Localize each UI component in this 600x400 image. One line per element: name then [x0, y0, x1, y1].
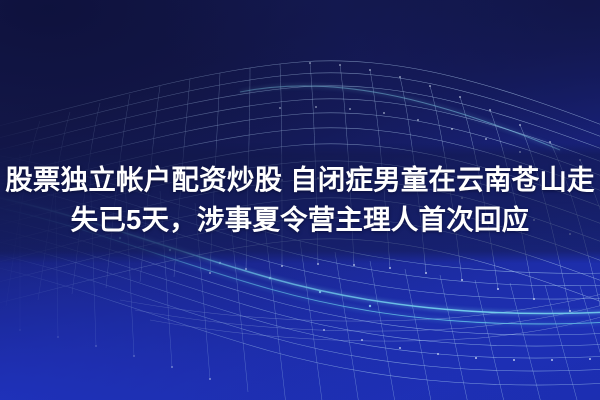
- news-banner: 股票独立帐户配资炒股 自闭症男童在云南苍山走 失已5天，涉事夏令营主理人首次回应: [0, 0, 600, 400]
- headline-line-2: 失已5天，涉事夏令营主理人首次回应: [0, 200, 600, 240]
- headline: 股票独立帐户配资炒股 自闭症男童在云南苍山走 失已5天，涉事夏令营主理人首次回应: [0, 160, 600, 240]
- headline-line-1: 股票独立帐户配资炒股 自闭症男童在云南苍山走: [0, 160, 600, 200]
